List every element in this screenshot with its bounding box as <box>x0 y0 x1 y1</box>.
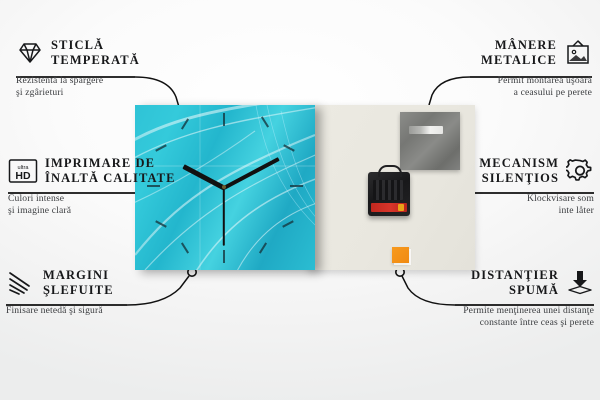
feature-subtitle: Permite menţinerea unei distanţe constan… <box>392 305 594 328</box>
polished-edges-icon <box>6 270 36 296</box>
feature-subtitle: Permit montarea uşoară a ceasului pe per… <box>400 75 592 98</box>
feature-silent-mechanism: MECANISM SILENŢIOS Klockvisare som inte … <box>400 156 594 216</box>
feature-hd-printing: ultra HD IMPRIMARE DE ÎNALTĂ CALITATE Cu… <box>8 156 198 216</box>
feature-subtitle: Finisare netedă şi sigură <box>6 305 191 317</box>
mechanism-body <box>373 180 403 200</box>
feature-tempered-glass: STICLĂ TEMPERATĂ Rezistentă la spargere … <box>16 38 196 98</box>
feature-subtitle: Klockvisare som inte låter <box>400 193 594 216</box>
feature-polished-edges: MARGINI ŞLEFUITE Finisare netedă şi sigu… <box>6 268 191 317</box>
tick-mark <box>290 185 303 187</box>
feature-subtitle: Culori intense şi imagine clară <box>8 193 198 216</box>
hand-pivot <box>222 185 226 189</box>
framed-picture-hook-icon <box>564 40 592 66</box>
feature-metal-handles: MÂNERE METALICE Permit montarea uşoară a… <box>400 38 592 98</box>
second-hand <box>223 188 225 246</box>
feature-title: MARGINI ŞLEFUITE <box>43 268 114 297</box>
feature-title: DISTANŢIER SPUMĂ <box>471 268 559 297</box>
feature-title: IMPRIMARE DE ÎNALTĂ CALITATE <box>45 156 176 185</box>
feature-title: STICLĂ TEMPERATĂ <box>51 38 140 67</box>
feature-title: MECANISM SILENŢIOS <box>479 156 559 185</box>
feature-title: MÂNERE METALICE <box>481 38 557 67</box>
feature-subtitle: Rezistentă la spargere şi zgârieturi <box>16 75 196 98</box>
tick-mark <box>223 250 225 263</box>
gear-icon <box>566 157 594 184</box>
hanger-slot <box>409 126 443 134</box>
diamond-icon <box>16 41 44 65</box>
foam-spacer <box>392 247 409 263</box>
mechanism-hook <box>378 165 402 177</box>
svg-text:HD: HD <box>15 170 31 182</box>
ultra-hd-icon: ultra HD <box>8 158 38 184</box>
infographic-canvas: STICLĂ TEMPERATĂ Rezistentă la spargere … <box>0 0 600 400</box>
feature-foam-spacer: DISTANŢIER SPUMĂ Permite menţinerea unei… <box>392 268 594 328</box>
arrow-down-pad-icon <box>566 269 594 296</box>
tick-mark <box>223 113 225 126</box>
